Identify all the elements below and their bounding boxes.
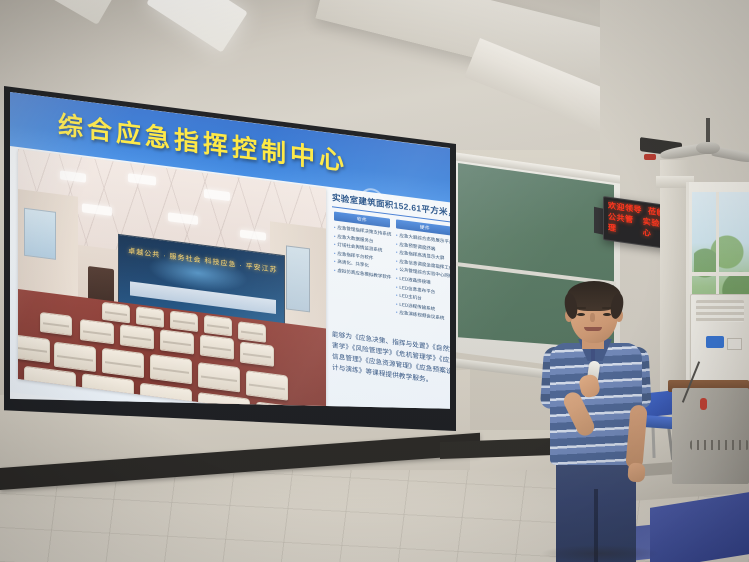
presenter-mouth (584, 327, 602, 331)
window-mullion-horizontal (692, 272, 749, 276)
presenter-hand-right (628, 463, 646, 483)
photo-door (286, 245, 310, 312)
slide-hardware-list: 应急大屏综合态势展示平台 应急预警调度终端 应急指挥高清显示大屏 应急信息调度坐… (396, 231, 450, 325)
photo-seat (238, 321, 266, 343)
photo-seat (240, 341, 274, 366)
air-conditioner-label (727, 338, 742, 350)
led-line-3: 公共管理 (608, 211, 637, 237)
photo-seat (136, 306, 164, 328)
photo-seat (160, 329, 194, 354)
photo-seat (102, 302, 130, 324)
ceiling-fan-motor (696, 142, 720, 154)
presenter[interactable] (536, 283, 658, 562)
photo-seat (102, 348, 144, 378)
photo-seat (200, 334, 234, 359)
lectern-vent-row (690, 440, 749, 450)
photo-seat (198, 362, 240, 392)
photo-seat (150, 354, 192, 384)
presenter-brow-right (602, 307, 612, 309)
slide-photo-command-center: 卓越公共 · 服务社会 科技应急 · 平安江苏 (18, 149, 326, 418)
photo-seat (40, 312, 72, 336)
air-conditioner-display (706, 336, 724, 348)
photo-seat (80, 319, 114, 344)
photo-seat (120, 324, 154, 349)
microphone-head-icon (700, 398, 707, 410)
presentation-slide: 综合应急指挥控制中心 Value 卓越公共 · 服务 (10, 92, 450, 422)
photo-seat (204, 315, 232, 337)
photo-seat (54, 342, 96, 372)
photo-window (24, 208, 56, 260)
classroom-photo-scene: 欢迎领导 莅临指导 公共管理 实验教学中心 (0, 0, 749, 562)
photo-seat (18, 334, 50, 363)
presenter-brow-left (576, 307, 586, 309)
alarm-light-icon (644, 154, 656, 160)
photo-seat (246, 370, 288, 400)
presenter-shadow (540, 545, 660, 562)
photo-seat (170, 310, 198, 332)
air-conditioner-vent-icon (696, 300, 744, 322)
slide-right-column: 实验室建筑面积152.61平方米，配备资源 软件 硬件 应急管理指挥决策支持系统… (332, 189, 450, 422)
slide-software-list: 应急管理指挥决策支持系统 应急大数据服务台 灯塔社会舆情监测系统 应急指挥平台软… (334, 223, 392, 282)
presenter-nose (590, 313, 595, 322)
display-screen[interactable]: 综合应急指挥控制中心 Value 卓越公共 · 服务 (10, 92, 450, 422)
